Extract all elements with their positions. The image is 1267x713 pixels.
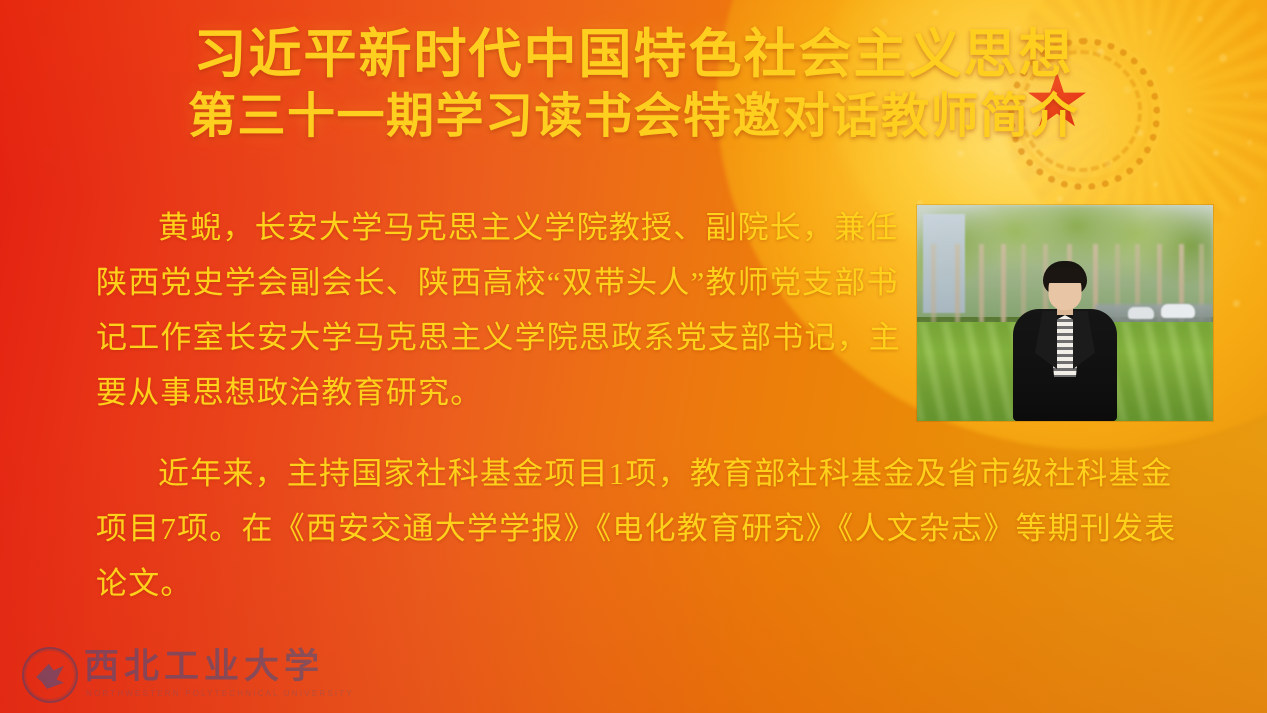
laurel-wreath-ring-icon bbox=[1008, 38, 1160, 190]
university-name-en: NORTHWESTERN POLYTECHNICAL UNIVERSITY bbox=[86, 689, 354, 699]
paragraph-research: 近年来，主持国家社科基金项目1项，教育部社科基金及省市级社科基金项目7项。在《西… bbox=[96, 446, 1186, 611]
page-subtitle: 第三十一期学习读书会特邀对话教师简介 bbox=[0, 88, 1267, 146]
university-name-zh: 西北工业大学 bbox=[84, 647, 324, 687]
nwpu-emblem-icon bbox=[22, 647, 78, 703]
laurel-wreath-inner-icon bbox=[1020, 50, 1142, 172]
page-title: 习近平新时代中国特色社会主义思想 bbox=[0, 24, 1267, 86]
person-fringe bbox=[1044, 268, 1086, 283]
photo-car-1 bbox=[1161, 304, 1195, 318]
photo-car-2 bbox=[1128, 307, 1154, 319]
nwpu-emblem-bird-icon bbox=[35, 662, 65, 690]
portrait-photo bbox=[917, 205, 1213, 421]
five-pointed-star-icon bbox=[1028, 72, 1086, 130]
photo-person bbox=[1013, 261, 1117, 421]
university-logo: 西北工业大学 NORTHWESTERN POLYTECHNICAL UNIVER… bbox=[22, 645, 312, 707]
slide-root: 习近平新时代中国特色社会主义思想 第三十一期学习读书会特邀对话教师简介 黄蜺，长… bbox=[0, 0, 1267, 713]
paragraph-bio: 黄蜺，长安大学马克思主义学院教授、副院长，兼任陕西党史学会副会长、陕西高校“双带… bbox=[96, 200, 906, 420]
title-block: 习近平新时代中国特色社会主义思想 第三十一期学习读书会特邀对话教师简介 bbox=[0, 24, 1267, 146]
